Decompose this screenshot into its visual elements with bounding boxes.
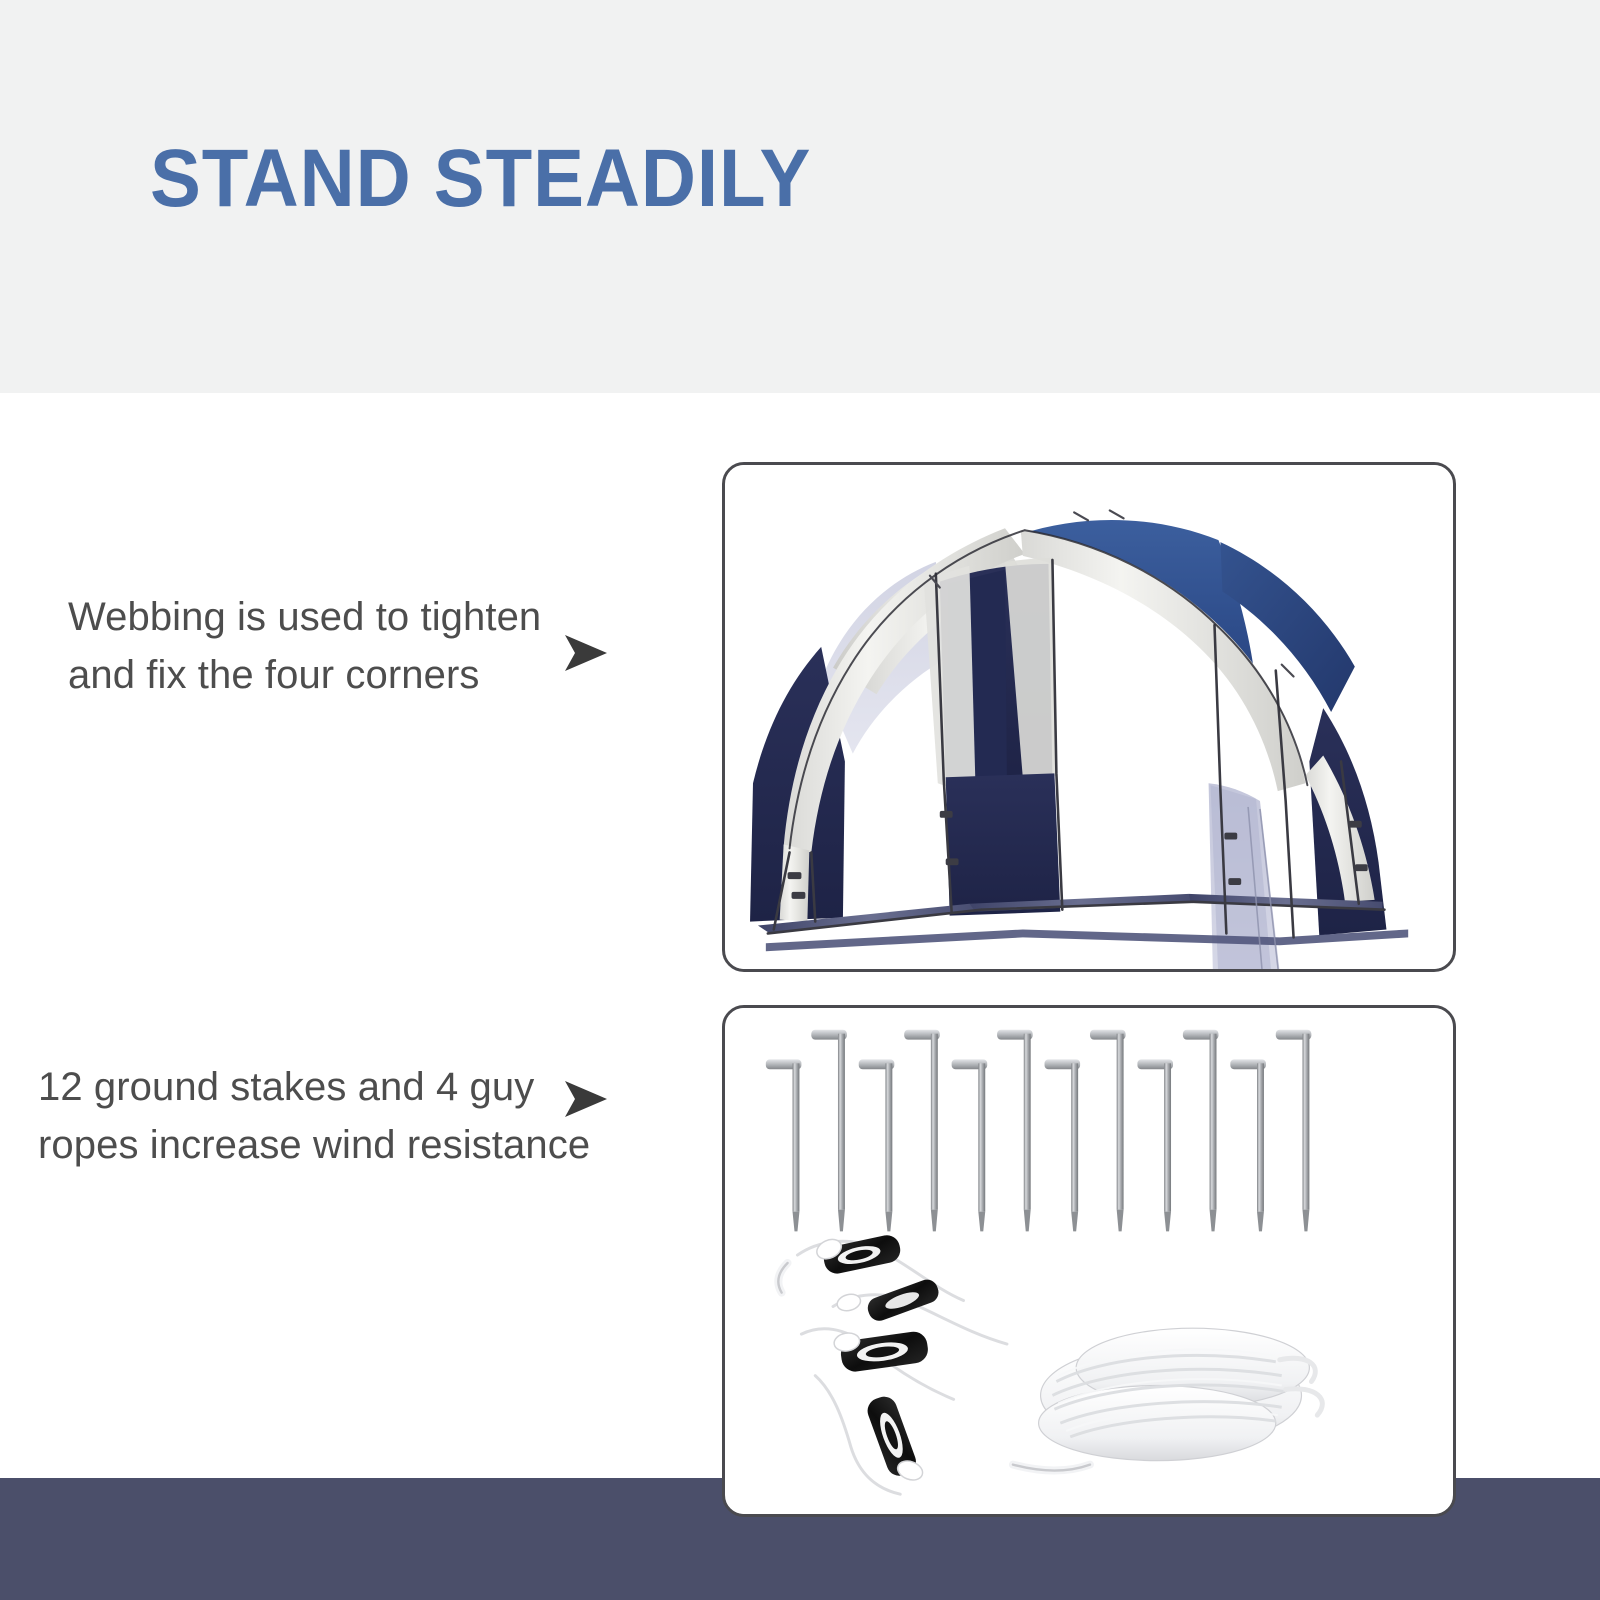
right-arrow-icon (563, 632, 609, 674)
page-title: STAND STEADILY (150, 138, 811, 220)
right-arrow-icon (563, 1078, 609, 1120)
product-photo-stakes-and-ropes (722, 1005, 1456, 1517)
feature-caption-stakes-ropes: 12 ground stakes and 4 guy ropes increas… (38, 1058, 618, 1174)
product-photo-tent (722, 462, 1456, 972)
feature-caption-webbing: Webbing is used to tighten and fix the f… (68, 588, 588, 704)
